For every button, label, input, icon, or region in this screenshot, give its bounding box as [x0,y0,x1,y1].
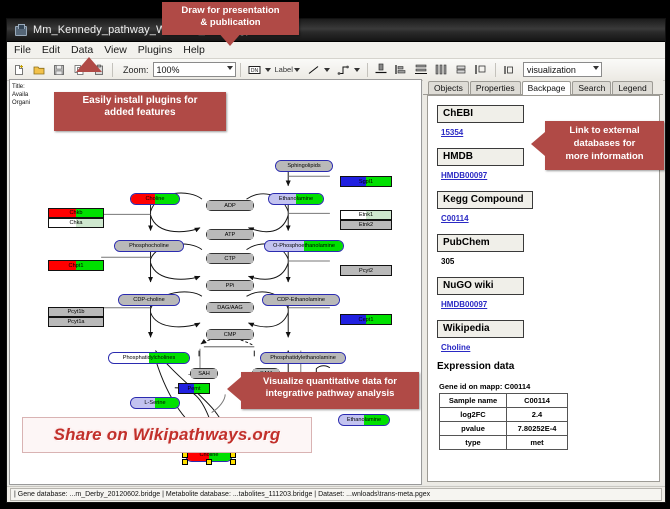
node-label: Chka [69,220,82,226]
callout-share-text: Share on Wikipathways.org [54,425,281,445]
callout-share: Share on Wikipathways.org [22,417,312,453]
cofactor-node[interactable]: CMP [206,329,254,340]
node-label: Cept1 [359,317,374,323]
cofactor-node[interactable]: SAH [190,368,218,379]
row-value: C00114 [507,394,568,408]
callout-visualize-arrow [227,377,241,401]
connector-dropdown-icon[interactable] [354,68,360,72]
callout-plugins: Easily install plugins for added feature… [54,92,226,131]
node-label: DAG/AAG [217,305,243,311]
menu-item-data[interactable]: Data [70,44,94,56]
gene-node[interactable]: Cept1 [340,314,392,325]
tab-objects[interactable]: Objects [428,81,469,94]
cofactor-node[interactable]: DAG/AAG [206,302,254,313]
group-icon[interactable] [472,60,491,79]
gene-node[interactable]: Pemt [178,383,210,394]
hmdb-link[interactable]: HMDB00097 [441,171,659,180]
gene-node[interactable]: Pcyt1a [48,317,104,327]
row-value: 7.80252E-4 [507,422,568,436]
title-bar: Mm_Kennedy_pathway_WP1771_45176.gpml [7,19,665,42]
callout-draw-line1: Draw for presentation [162,5,299,17]
distribute-vertical-icon[interactable] [412,60,431,79]
meta-organism-label: Organi [12,99,30,107]
callout-links-line1: Link to external [545,124,664,137]
canvas-meta-labels: Title: Availa Organi [12,83,30,107]
toolbar-separator [240,63,241,77]
cofactor-node[interactable]: ATP [206,229,254,240]
pathway-canvas[interactable]: Title: Availa Organi [9,79,422,485]
side-panel-tabs: Objects Properties Backpage Search Legen… [423,79,663,95]
selection-handle[interactable] [206,459,212,465]
status-bar: | Gene database: ...m_Derby_20120602.bri… [7,486,665,502]
node-label: Chpt1 [69,263,84,269]
backpage-section-nugo: NuGO wiki HMDB00097 [437,275,659,309]
tab-properties[interactable]: Properties [470,81,521,94]
node-label: Phosphatidylcholines [123,355,176,361]
table-row: log2FC 2.4 [440,408,568,422]
gene-node[interactable]: Etnk2 [340,220,392,230]
stack-icon[interactable] [452,60,471,79]
node-label: Pcyt1b [67,309,84,315]
backpage-section-kegg: Kegg Compound C00114 [437,189,659,223]
row-key: Sample name [440,394,507,408]
align-bottom-icon[interactable] [372,60,391,79]
distribute-horizontal-icon[interactable] [432,60,451,79]
status-bar-text: | Gene database: ...m_Derby_20120602.bri… [10,488,662,501]
gene-id-line: Gene id on mapp: C00114 [439,382,659,391]
wikipedia-heading: Wikipedia [437,320,524,338]
toolbar-separator [367,63,368,77]
callout-links-line2: databases for [545,137,664,150]
nugo-link[interactable]: HMDB00097 [441,300,659,309]
metabolite-node[interactable]: Choline [130,193,180,205]
row-key: type [440,436,507,450]
expression-table: Sample name C00114 log2FC 2.4 pvalue 7.8… [439,393,568,450]
svg-text:DN: DN [250,68,258,74]
new-file-icon[interactable] [9,60,28,79]
chevron-down-icon [593,66,599,70]
wikipedia-link[interactable]: Choline [441,343,659,352]
callout-draw-arrow [217,31,243,46]
node-label: Chkb [69,210,82,216]
row-key: pvalue [440,422,507,436]
callout-plugins-arrow [76,57,102,72]
callout-links-arrow [531,132,545,156]
gene-node[interactable]: Etnk1 [340,210,392,220]
cofactor-node[interactable]: ADP [206,200,254,211]
tab-backpage[interactable]: Backpage [522,81,572,95]
callout-links: Link to external databases for more info… [545,121,664,170]
callout-plugins-line1: Easily install plugins for [54,95,226,107]
metabolite-node[interactable]: Sphingolipids [275,160,333,172]
zoom-label: Zoom: [123,65,149,75]
gene-node[interactable]: Chka [48,218,104,228]
node-label: O-Phosphoethanolamine [273,243,335,249]
expression-data-title: Expression data [437,361,659,372]
callout-visualize-line2: integrative pathway analysis [241,388,419,400]
zoom-value: 100% [157,65,180,75]
metabolite-node[interactable]: L-Serine [130,397,180,409]
meta-title-label: Title: [12,83,30,91]
node-label: CMP [224,332,236,338]
cofactor-node[interactable]: PPi [206,280,254,291]
application-window: Mm_Kennedy_pathway_WP1771_45176.gpml Fil… [6,18,666,503]
chevron-down-icon [227,66,233,70]
row-value: met [507,436,568,450]
label-dropdown-icon[interactable] [294,68,300,72]
backpage-section-wikipedia: Wikipedia Choline [437,318,659,352]
open-folder-icon[interactable] [29,60,48,79]
node-label: Ethanolamine [347,417,381,423]
align-left-icon[interactable] [392,60,411,79]
visualization-combo[interactable]: visualization [523,62,602,77]
hmdb-heading: HMDB [437,148,524,166]
node-label: Pcyt1a [67,319,84,325]
node-label: CTP [224,256,235,262]
callout-visualize-line1: Visualize quantitative data for [241,376,419,388]
table-row: Sample name C00114 [440,394,568,408]
node-label: Etnk2 [359,222,373,228]
node-label: Ethanolamine [279,196,313,202]
save-icon[interactable] [49,60,68,79]
metabolite-node[interactable]: Ethanolamine [338,414,390,426]
node-label: Sgpl1 [359,179,373,185]
table-row: type met [440,436,568,450]
callout-draw-line2: & publication [162,17,299,29]
metabolite-node[interactable]: Phosphocholine [114,240,184,252]
visualization-value: visualization [527,65,576,75]
menu-item-help[interactable]: Help [182,44,206,56]
connector-tool-icon[interactable] [334,60,353,79]
node-label: ATP [225,232,235,238]
metabolite-node[interactable]: Phosphatidylethanolamine [260,352,346,364]
kegg-heading: Kegg Compound [437,191,533,209]
datanode-dropdown-icon[interactable] [265,68,271,72]
toolbar-separator [495,63,496,77]
meta-available-label: Availa [12,91,30,99]
metabolite-node[interactable]: Phosphatidylcholines [108,352,190,364]
metabolite-node[interactable]: CDP-Ethanolamine [262,294,340,306]
datanode-tool-icon[interactable]: DN [245,60,264,79]
gene-node[interactable]: Chkb [48,208,104,218]
tab-legend[interactable]: Legend [612,81,652,94]
node-label: PPi [226,283,235,289]
node-label: Pemt [187,386,200,392]
menu-item-file[interactable]: File [13,44,32,56]
line-dropdown-icon[interactable] [324,68,330,72]
menu-item-edit[interactable]: Edit [41,44,61,56]
gene-node[interactable]: Pcyt2 [340,265,392,276]
kegg-link[interactable]: C00114 [441,214,659,223]
backpage-section-pubchem: PubChem 305 [437,232,659,266]
chebi-heading: ChEBI [437,105,524,123]
node-label: SAH [198,371,210,377]
node-label: Phosphatidylethanolamine [270,355,336,361]
visualization-icon[interactable] [500,60,519,79]
node-label: CDP-choline [133,297,164,303]
gene-node[interactable]: Chpt1 [48,260,104,271]
node-label: L-Serine [144,400,165,406]
gene-node[interactable]: Sgpl1 [340,176,392,187]
menu-item-plugins[interactable]: Plugins [137,44,173,56]
node-label: Etnk1 [359,212,373,218]
tab-search[interactable]: Search [572,81,611,94]
node-label: ADP [224,203,236,209]
table-row: pvalue 7.80252E-4 [440,422,568,436]
menu-item-view[interactable]: View [103,44,128,56]
pubchem-heading: PubChem [437,234,524,252]
metabolite-node[interactable]: Ethanolamine [268,193,324,205]
line-tool-icon[interactable] [304,60,323,79]
toolbar-separator [112,63,113,77]
row-key: log2FC [440,408,507,422]
cofactor-node[interactable]: CTP [206,253,254,264]
selection-handle[interactable] [230,459,236,465]
gene-node[interactable]: Pcyt1b [48,307,104,317]
app-icon [14,24,28,36]
node-label: CDP-Ethanolamine [277,297,325,303]
pubchem-value: 305 [441,257,659,266]
row-value: 2.4 [507,408,568,422]
label-tool-label[interactable]: Label [275,65,293,74]
callout-plugins-line2: added features [54,107,226,119]
callout-links-line3: more information [545,150,664,163]
selection-handle[interactable] [182,459,188,465]
metabolite-node[interactable]: O-Phosphoethanolamine [264,240,344,252]
node-label: Pcyt2 [359,268,373,274]
screenshot-root: Mm_Kennedy_pathway_WP1771_45176.gpml Fil… [0,0,670,509]
metabolite-node[interactable]: CDP-choline [118,294,180,306]
node-label: Sphingolipids [287,163,320,169]
node-label: Choline [146,196,165,202]
zoom-combo[interactable]: 100% [153,62,236,77]
nugo-heading: NuGO wiki [437,277,524,295]
menu-bar: File Edit Data View Plugins Help [7,42,665,59]
node-label: Phosphocholine [129,243,169,249]
callout-visualize: Visualize quantitative data for integrat… [241,372,419,409]
